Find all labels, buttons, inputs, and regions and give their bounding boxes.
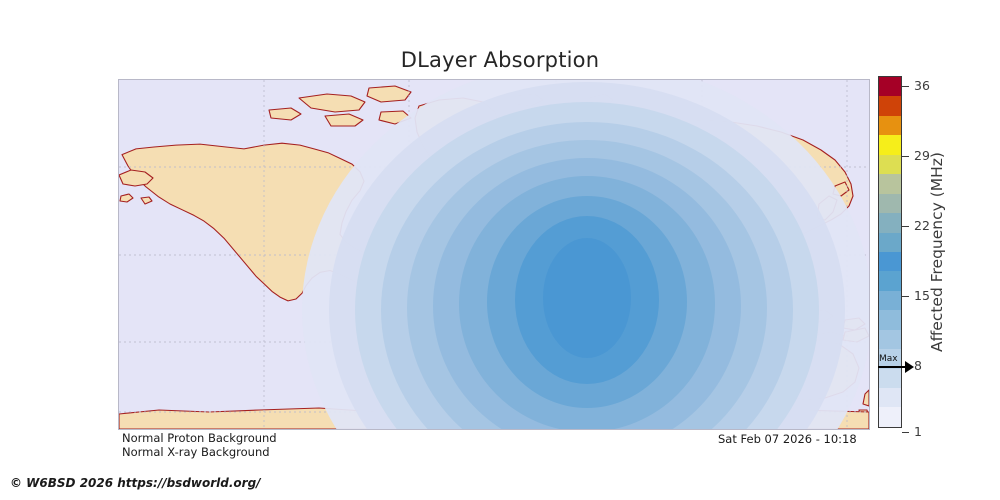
colorbar-segment <box>879 388 901 407</box>
tick-mark-icon <box>902 296 909 297</box>
tick-mark-icon <box>902 156 909 157</box>
colorbar-segment <box>879 252 901 271</box>
colorbar-segment <box>879 291 901 310</box>
colorbar-segment <box>879 213 901 232</box>
colorbar-label: Affected Frequency (MHz) <box>925 76 949 428</box>
max-marker: Max <box>878 356 920 378</box>
figure-canvas: DLayer Absorption <box>0 0 1000 500</box>
xray-background-note: Normal X-ray Background <box>122 445 270 459</box>
absorption-contours <box>302 80 869 429</box>
tick-mark-icon <box>902 226 909 227</box>
map-svg <box>119 80 869 429</box>
tick-mark-icon <box>902 86 909 87</box>
colorbar-segment <box>879 233 901 252</box>
colorbar-segment <box>879 77 901 96</box>
colorbar-segment <box>879 155 901 174</box>
arrow-right-icon <box>878 366 908 368</box>
colorbar-segment <box>879 271 901 290</box>
arrow-head-icon <box>905 361 914 373</box>
world-map[interactable] <box>118 79 870 430</box>
colorbar-segment <box>879 330 901 349</box>
colorbar-tick-label: 1 <box>914 424 922 439</box>
proton-background-note: Normal Proton Background <box>122 431 277 445</box>
colorbar-segment <box>879 407 901 426</box>
credit-text: © W6BSD 2026 https://bsdworld.org/ <box>10 476 261 490</box>
max-marker-label: Max <box>879 354 898 364</box>
page-title: DLayer Absorption <box>0 48 1000 72</box>
colorbar-tick-1: 1 <box>902 424 922 439</box>
colorbar-segment <box>879 310 901 329</box>
colorbar-segment <box>879 96 901 115</box>
colorbar-segment <box>879 116 901 135</box>
timestamp: Sat Feb 07 2026 - 10:18 <box>718 432 857 446</box>
colorbar-segment <box>879 135 901 154</box>
colorbar-segment <box>879 194 901 213</box>
tick-mark-icon <box>902 432 909 433</box>
colorbar-segment <box>879 174 901 193</box>
